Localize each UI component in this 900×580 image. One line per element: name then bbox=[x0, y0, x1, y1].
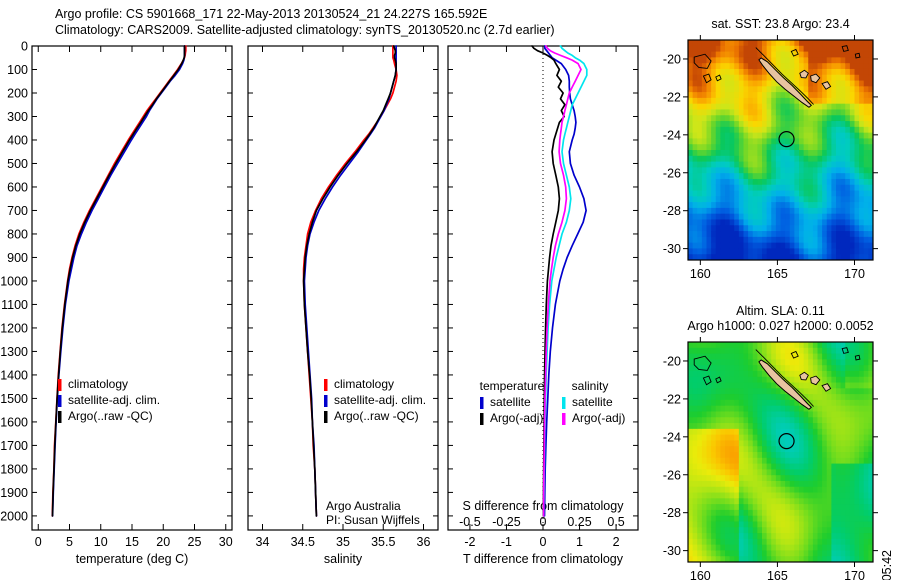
map-title: Argo h1000: 0.027 h2000: 0.0052 bbox=[687, 319, 873, 333]
y-tick-label: 700 bbox=[7, 204, 28, 218]
x-tick-label: 20 bbox=[156, 535, 170, 549]
sst-map-panel: sat. SST: 23.8 Argo: 23.4160165170-20-22… bbox=[655, 10, 900, 290]
x-tick-label: 0 bbox=[540, 535, 547, 549]
legend-swatch bbox=[58, 379, 62, 391]
y-tick-label: 1100 bbox=[1, 298, 28, 312]
map-title: sat. SST: 23.8 Argo: 23.4 bbox=[711, 17, 849, 31]
imos-timestamp: IMOS 25-May-2013 17:05:42 bbox=[880, 550, 894, 580]
page-title: Argo profile: CS 5901668_171 22-May-2013… bbox=[55, 6, 555, 38]
map-y-tick-label: -20 bbox=[663, 52, 681, 66]
x-tick-label: 34 bbox=[256, 535, 270, 549]
x-tick-label: 0 bbox=[35, 535, 42, 549]
legend-label: climatology bbox=[68, 377, 128, 391]
y-tick-label: 2000 bbox=[0, 509, 28, 523]
x-tick-label: -2 bbox=[464, 535, 475, 549]
legend-swatch bbox=[58, 411, 62, 423]
legend-swatch bbox=[324, 395, 328, 407]
x-tick-label-secondary: -0.5 bbox=[459, 515, 481, 529]
map-y-tick-label: -22 bbox=[663, 90, 681, 104]
map-y-tick-label: -30 bbox=[663, 242, 681, 256]
y-tick-label: 1500 bbox=[0, 392, 28, 406]
profile-curve bbox=[52, 46, 186, 516]
legend-swatch bbox=[324, 379, 328, 391]
profile-curve bbox=[53, 46, 185, 516]
x-tick-label: 25 bbox=[188, 535, 202, 549]
map-x-tick-label: 165 bbox=[767, 569, 788, 580]
x-axis-label: T difference from climatology bbox=[463, 552, 624, 566]
y-tick-label: 900 bbox=[7, 251, 28, 265]
profile-curve bbox=[53, 46, 185, 516]
y-tick-label: 1700 bbox=[0, 439, 28, 453]
credit-line-2: PI: Susan Wijffels bbox=[326, 513, 420, 527]
profile-curve bbox=[304, 46, 397, 516]
legend-label: Argo(..raw -QC) bbox=[334, 409, 419, 423]
map-y-tick-label: -26 bbox=[663, 468, 681, 482]
legend-label: satellite bbox=[572, 395, 613, 409]
legend-swatch bbox=[58, 395, 62, 407]
axes-frame bbox=[32, 46, 232, 530]
legend-swatch bbox=[562, 397, 566, 409]
x-tick-label: 34.5 bbox=[291, 535, 315, 549]
legend-label: climatology bbox=[334, 377, 394, 391]
legend-label: satellite-adj. clim. bbox=[68, 393, 160, 407]
title-line-1: Argo profile: CS 5901668_171 22-May-2013… bbox=[55, 6, 555, 22]
profile-curve bbox=[304, 46, 396, 516]
x-tick-label-secondary: 0.5 bbox=[607, 515, 624, 529]
map-x-tick-label: 160 bbox=[690, 267, 711, 281]
map-y-tick-label: -24 bbox=[663, 430, 681, 444]
y-tick-label: 1600 bbox=[0, 415, 28, 429]
y-tick-label: 200 bbox=[7, 86, 28, 100]
legend-swatch bbox=[324, 411, 328, 423]
sla-map-panel: Altim. SLA: 0.11Argo h1000: 0.027 h2000:… bbox=[655, 300, 900, 580]
legend-label: satellite bbox=[490, 395, 531, 409]
map-y-tick-label: -28 bbox=[663, 204, 681, 218]
x-tick-label-secondary: 0.25 bbox=[567, 515, 591, 529]
y-tick-label: 300 bbox=[7, 110, 28, 124]
y-tick-label: 400 bbox=[7, 133, 28, 147]
y-tick-label: 1800 bbox=[0, 462, 28, 476]
legend-label: satellite-adj. clim. bbox=[334, 393, 426, 407]
map-x-tick-label: 170 bbox=[844, 569, 865, 580]
credit-line-1: Argo Australia bbox=[326, 499, 401, 513]
legend-label: Argo(..raw -QC) bbox=[68, 409, 153, 423]
legend-swatch bbox=[480, 397, 484, 409]
x-axis-label: temperature (deg C) bbox=[76, 552, 189, 566]
map-x-tick-label: 165 bbox=[767, 267, 788, 281]
x-axis-label: salinity bbox=[324, 552, 363, 566]
y-tick-label: 1400 bbox=[0, 368, 28, 382]
salinity-panel: 3434.53535.536salinityclimatologysatelli… bbox=[240, 38, 455, 580]
y-tick-label: 600 bbox=[7, 180, 28, 194]
map-y-tick-label: -28 bbox=[663, 506, 681, 520]
profile-curve bbox=[304, 46, 397, 516]
y-tick-label: 100 bbox=[7, 63, 28, 77]
map-y-tick-label: -30 bbox=[663, 544, 681, 558]
title-line-2: Climatology: CARS2009. Satellite-adjuste… bbox=[55, 22, 555, 38]
legend-swatch bbox=[562, 413, 566, 425]
map-title: Altim. SLA: 0.11 bbox=[736, 304, 825, 318]
map-y-tick-label: -24 bbox=[663, 128, 681, 142]
x-tick-label-secondary: -0.25 bbox=[492, 515, 521, 529]
map-raster bbox=[688, 342, 874, 563]
y-tick-label: 1200 bbox=[0, 321, 28, 335]
map-y-tick-label: -26 bbox=[663, 166, 681, 180]
legend-swatch bbox=[480, 413, 484, 425]
legend-group-title: salinity bbox=[572, 379, 609, 393]
map-y-tick-label: -20 bbox=[663, 354, 681, 368]
map-x-tick-label: 170 bbox=[844, 267, 865, 281]
y-tick-label: 1300 bbox=[0, 345, 28, 359]
legend-group-title: temperature bbox=[480, 379, 545, 393]
x-tick-label: 5 bbox=[66, 535, 73, 549]
x-tick-label: 2 bbox=[613, 535, 620, 549]
y-tick-label: 1000 bbox=[0, 274, 28, 288]
x-tick-label: 15 bbox=[125, 535, 139, 549]
y-tick-label: 1900 bbox=[0, 486, 28, 500]
legend-label: Argo(-adj) bbox=[572, 411, 625, 425]
x-tick-label: 35.5 bbox=[371, 535, 395, 549]
x-tick-label: 10 bbox=[94, 535, 108, 549]
difference-panel: -2-1012T difference from climatology-0.5… bbox=[440, 38, 660, 580]
temperature-panel: 0100200300400500600700800900100011001200… bbox=[0, 38, 250, 580]
x-tick-label: 1 bbox=[576, 535, 583, 549]
y-tick-label: 0 bbox=[21, 40, 28, 54]
y-tick-label: 800 bbox=[7, 227, 28, 241]
map-y-tick-label: -22 bbox=[663, 392, 681, 406]
map-raster bbox=[688, 40, 874, 261]
legend-label: Argo(-adj) bbox=[490, 411, 543, 425]
x-tick-label: 36 bbox=[417, 535, 431, 549]
map-x-tick-label: 160 bbox=[690, 569, 711, 580]
x-tick-label: 35 bbox=[336, 535, 350, 549]
y-tick-label: 500 bbox=[7, 157, 28, 171]
axes-frame bbox=[248, 46, 438, 530]
x-tick-label: 30 bbox=[219, 535, 233, 549]
x-tick-label: -1 bbox=[501, 535, 512, 549]
